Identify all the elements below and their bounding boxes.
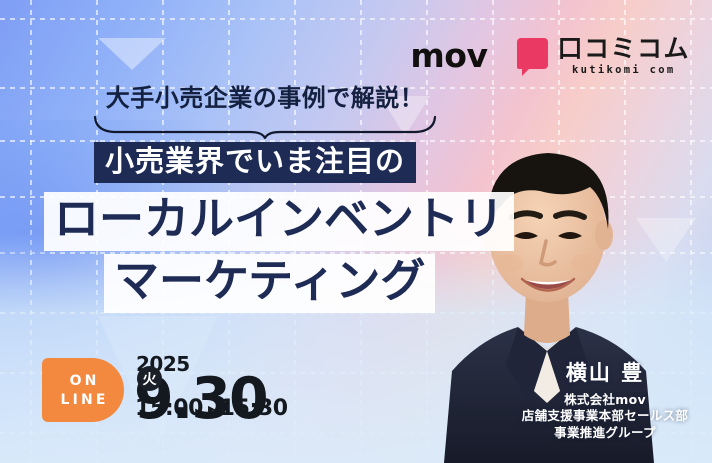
speaker-company: 株式会社mov [510,392,700,409]
mov-logo[interactable]: mov [410,39,487,72]
kutikomi-logo-jp: 口コミコム [557,36,690,61]
kutikomi-logo[interactable]: 口コミコム kutikomi com [517,36,690,76]
event-time: 15:00 ▸ 15:30 [135,396,288,421]
speaker-info: 横山 豊 株式会社mov 店舗支援事業本部セールス部 事業推進グループ [510,357,700,442]
subtitle-text: 小売業界でいま注目の [105,144,405,178]
webinar-banner: mov 口コミコム kutikomi com 大手小売企業の事例で解説！ 小売業… [0,0,712,463]
event-time-start: 15:00 [135,396,203,421]
triangle-decoration-right [636,218,696,262]
logo-row: mov 口コミコム kutikomi com [410,36,690,76]
speaker-name: 横山 豊 [510,357,700,387]
online-badge-line1: ON [66,373,99,389]
speech-bubble-icon [517,38,548,69]
curly-brace-icon [92,115,438,139]
title-band-line2: マーケティング [104,254,435,313]
lead-copy: 大手小売企業の事例で解説！ [92,78,438,139]
triangle-decoration-top-left [98,38,166,70]
title-band-line1: ローカルインベントリ [44,192,514,251]
day-of-week-badge: 火 [137,366,162,391]
arrow-right-icon: ▸ [208,402,215,416]
lead-copy-text: 大手小売企業の事例で解説！ [92,78,438,113]
title-line1-text: ローカルインベントリ [54,192,504,245]
event-time-end: 15:30 [220,396,288,421]
speaker-group: 事業推進グループ [510,425,700,442]
kutikomi-logo-en: kutikomi com [557,65,690,76]
online-badge-line2: LINE [57,392,108,408]
speaker-department: 店舗支援事業本部セールス部 [510,408,700,425]
title-line2-text: マーケティング [114,254,425,307]
online-badge: ON LINE [42,358,124,422]
triangle-decoration-left-edge [0,196,46,254]
subtitle-band: 小売業界でいま注目の [94,142,416,183]
